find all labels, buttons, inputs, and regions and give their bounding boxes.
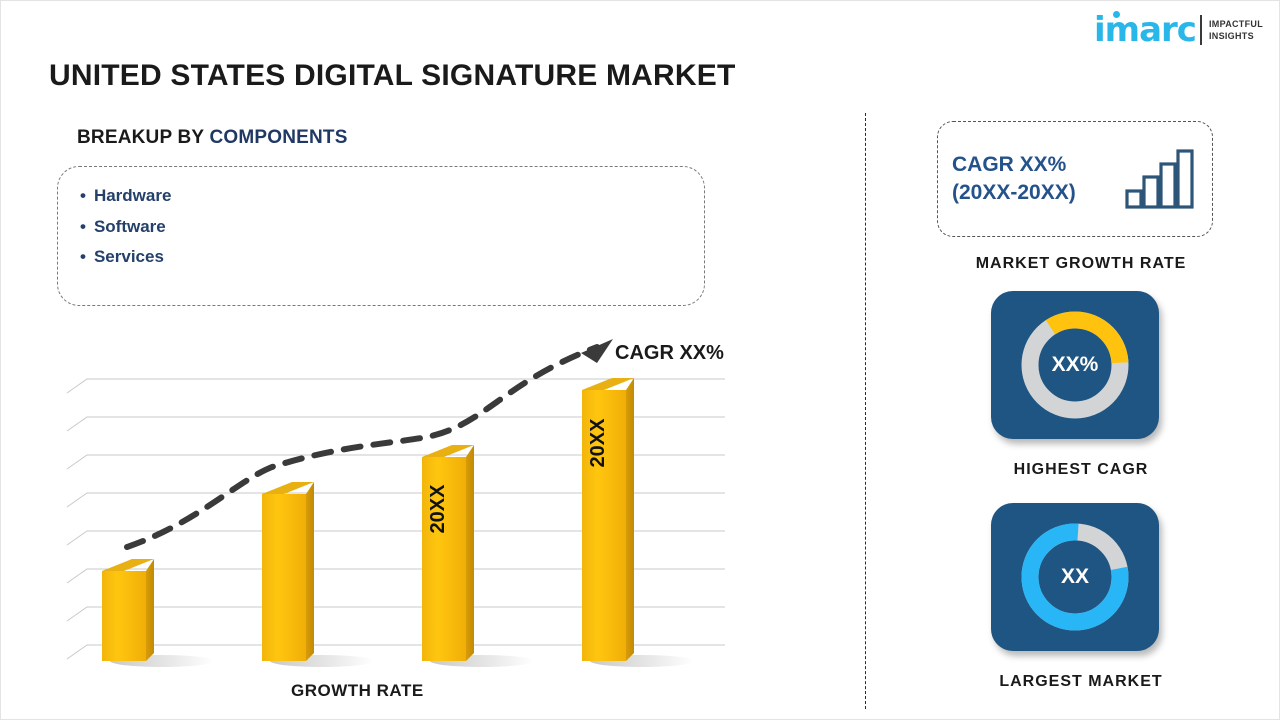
donut-chart-cagr: XX% xyxy=(1013,303,1137,427)
donut-value-market: XX xyxy=(1013,515,1137,639)
bar-chart-icon xyxy=(1124,148,1198,210)
logo-dot-icon xyxy=(1113,11,1120,18)
bar-label-4: 20XX xyxy=(587,418,609,468)
page-title: UNITED STATES DIGITAL SIGNATURE MARKET xyxy=(49,59,735,93)
chart-svg: 20XX 20XX xyxy=(57,331,757,676)
logo-tagline-line1: IMPACTFUL xyxy=(1209,18,1263,30)
components-box: Hardware Software Services xyxy=(57,166,705,306)
infographic-page: imarc IMPACTFUL INSIGHTS UNITED STATES D… xyxy=(0,0,1280,720)
trend-cagr-label: CAGR XX% xyxy=(615,342,724,365)
logo-divider xyxy=(1200,15,1202,45)
logo-tagline-line2: INSIGHTS xyxy=(1209,30,1263,42)
market-growth-rate-card: CAGR XX% (20XX-20XX) xyxy=(937,121,1213,237)
market-growth-rate-caption: MARKET GROWTH RATE xyxy=(901,255,1261,273)
highest-cagr-card: XX% xyxy=(991,291,1159,439)
bar-1 xyxy=(102,559,154,661)
cagr-line2: (20XX-20XX) xyxy=(952,179,1124,207)
breakup-subtitle: BREAKUP BY COMPONENTS xyxy=(77,127,348,149)
subtitle-prefix: BREAKUP BY xyxy=(77,127,204,148)
logo-wordmark: imarc xyxy=(1094,13,1196,47)
trend-line xyxy=(127,339,613,547)
logo-tagline: IMPACTFUL INSIGHTS xyxy=(1209,18,1263,42)
donut-value-cagr: XX% xyxy=(1013,303,1137,427)
list-item: Software xyxy=(76,212,704,243)
panel-divider xyxy=(865,113,866,709)
components-list: Hardware Software Services xyxy=(76,181,704,273)
highest-cagr-caption: HIGHEST CAGR xyxy=(901,461,1261,479)
bar-4: 20XX xyxy=(582,378,634,661)
bar-3: 20XX xyxy=(422,445,474,661)
largest-market-card: XX xyxy=(991,503,1159,651)
chart-axis-label: GROWTH RATE xyxy=(291,681,424,701)
donut-chart-market: XX xyxy=(1013,515,1137,639)
list-item: Services xyxy=(76,242,704,273)
bar-label-3: 20XX xyxy=(427,484,449,534)
subtitle-accent: COMPONENTS xyxy=(209,127,347,148)
imarc-logo: imarc IMPACTFUL INSIGHTS xyxy=(1094,13,1263,47)
cagr-text: CAGR XX% (20XX-20XX) xyxy=(952,151,1124,207)
largest-market-caption: LARGEST MARKET xyxy=(901,673,1261,691)
bar-2 xyxy=(262,482,314,661)
list-item: Hardware xyxy=(76,181,704,212)
cagr-line1: CAGR XX% xyxy=(952,151,1124,179)
growth-rate-chart: 20XX 20XX xyxy=(57,331,757,711)
